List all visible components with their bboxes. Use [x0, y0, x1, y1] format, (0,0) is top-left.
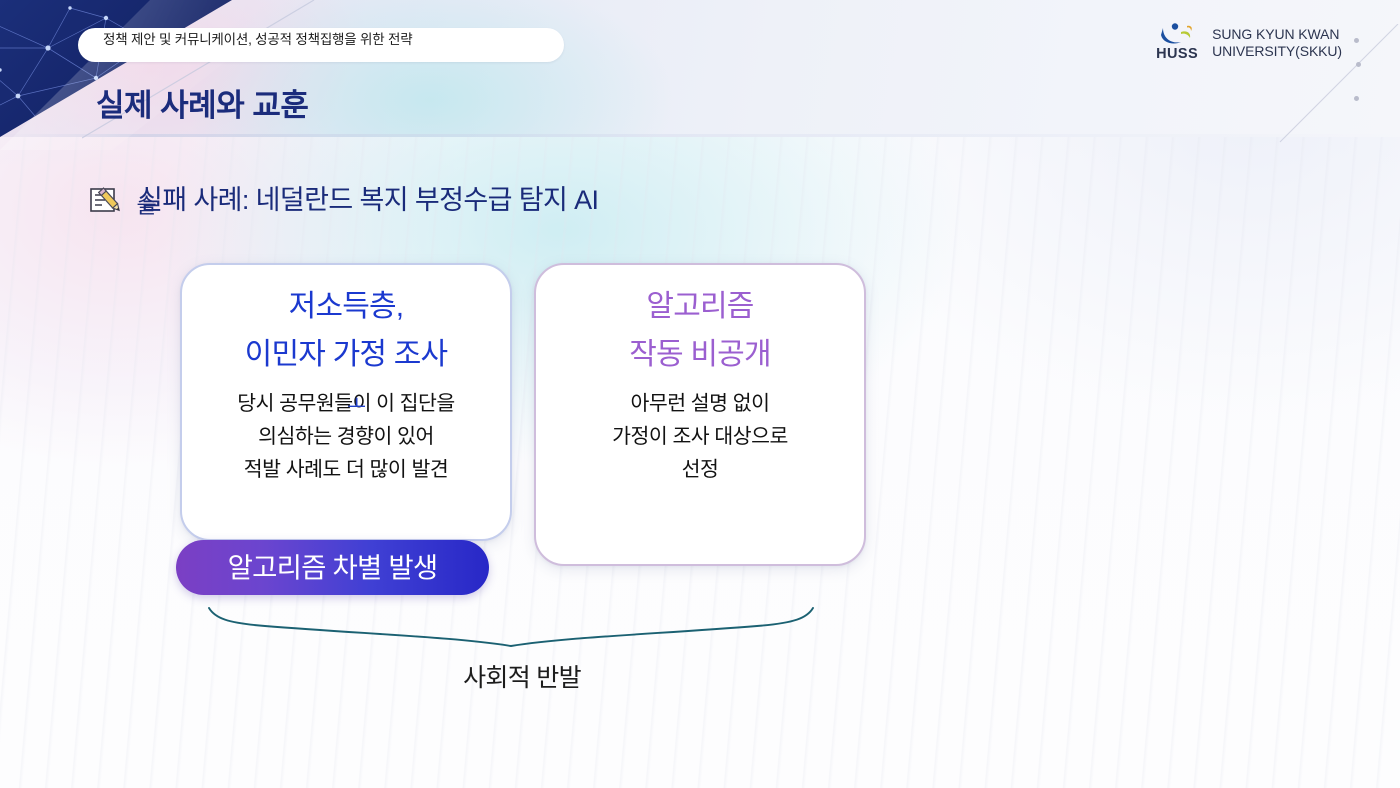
result-badge-label: 알고리즘 차별 발생	[228, 553, 438, 583]
card-1-heading-line-2: 이민자 가정 조사	[245, 331, 448, 379]
card-1-body-line-2: 의심하는 경향이 있어	[237, 420, 455, 453]
result-badge-algorithm-discrimination[interactable]: 알고리즘 차별 발생	[176, 540, 489, 595]
section-heading-label: 실패 사례: 네덜란드 복지 부정수급 탐지 AI	[138, 185, 598, 215]
section-heading: 슬 실패 사례: 네덜란드 복지 부정수급 탐지 AI	[138, 182, 598, 218]
card-1-body-line-1: 당시 공무원들이 이 집단을 ㅗ	[237, 387, 455, 420]
logo-university-name: SUNG KYUN KWAN UNIVERSITY(SKKU)	[1212, 24, 1342, 60]
huss-emblem-icon	[1157, 22, 1197, 46]
card-1-body-line-3: 적발 사례도 더 많이 발견	[237, 453, 455, 486]
university-logo: HUSS SUNG KYUN KWAN UNIVERSITY(SKKU)	[1151, 22, 1342, 61]
card-1-body: 당시 공무원들이 이 집단을 ㅗ 의심하는 경향이 있어 적발 사례도 더 많이…	[237, 379, 455, 486]
slide-canvas: 정책 제안 및 커뮤니케이션, 성공적 정책집행을 위한 전략 실제 사례와 교…	[0, 0, 1400, 788]
card-2-heading-line-2: 작동 비공개	[629, 331, 771, 379]
card-2-body: 아무런 설명 없이 가정이 조사 대상으로 선정	[612, 379, 788, 486]
card-1-body-line-1-text: 당시 공무원들이 이 집단을	[237, 392, 455, 415]
card-2-body-line-2: 가정이 조사 대상으로	[612, 420, 788, 453]
case-card-opaque-algorithm[interactable]: 알고리즘 작동 비공개 아무런 설명 없이 가정이 조사 대상으로 선정	[534, 263, 866, 566]
footer-caption: 사회적 반발	[0, 660, 1044, 696]
huss-logo-mark: HUSS	[1151, 22, 1203, 61]
curly-brace-down	[205, 604, 825, 652]
dot-3	[1354, 96, 1359, 101]
card-1-heading-line-1: 저소득층,	[245, 283, 448, 331]
case-card-low-income[interactable]: 저소득층, 이민자 가정 조사 당시 공무원들이 이 집단을 ㅗ 의심하는 경향…	[180, 263, 512, 541]
card-2-body-line-1: 아무런 설명 없이	[612, 387, 788, 420]
logo-name-line-1: SUNG KYUN KWAN	[1212, 26, 1342, 43]
card-1-heading: 저소득층, 이민자 가정 조사	[245, 265, 448, 379]
dot-1	[1354, 38, 1359, 43]
memo-pencil-icon	[88, 184, 124, 220]
dot-2	[1356, 62, 1361, 67]
logo-huss-text: HUSS	[1156, 47, 1198, 61]
breadcrumb: 정책 제안 및 커뮤니케이션, 성공적 정책집행을 위한 전략	[103, 30, 573, 49]
card-2-heading-line-1: 알고리즘	[629, 283, 771, 331]
card-2-heading: 알고리즘 작동 비공개	[629, 265, 771, 379]
page-title: 실제 사례와 교훈	[96, 84, 308, 128]
card-2-body-line-3: 선정	[612, 453, 788, 486]
section-heading-row: 슬 실패 사례: 네덜란드 복지 부정수급 탐지 AI	[88, 182, 598, 220]
logo-name-line-2: UNIVERSITY(SKKU)	[1212, 43, 1342, 60]
